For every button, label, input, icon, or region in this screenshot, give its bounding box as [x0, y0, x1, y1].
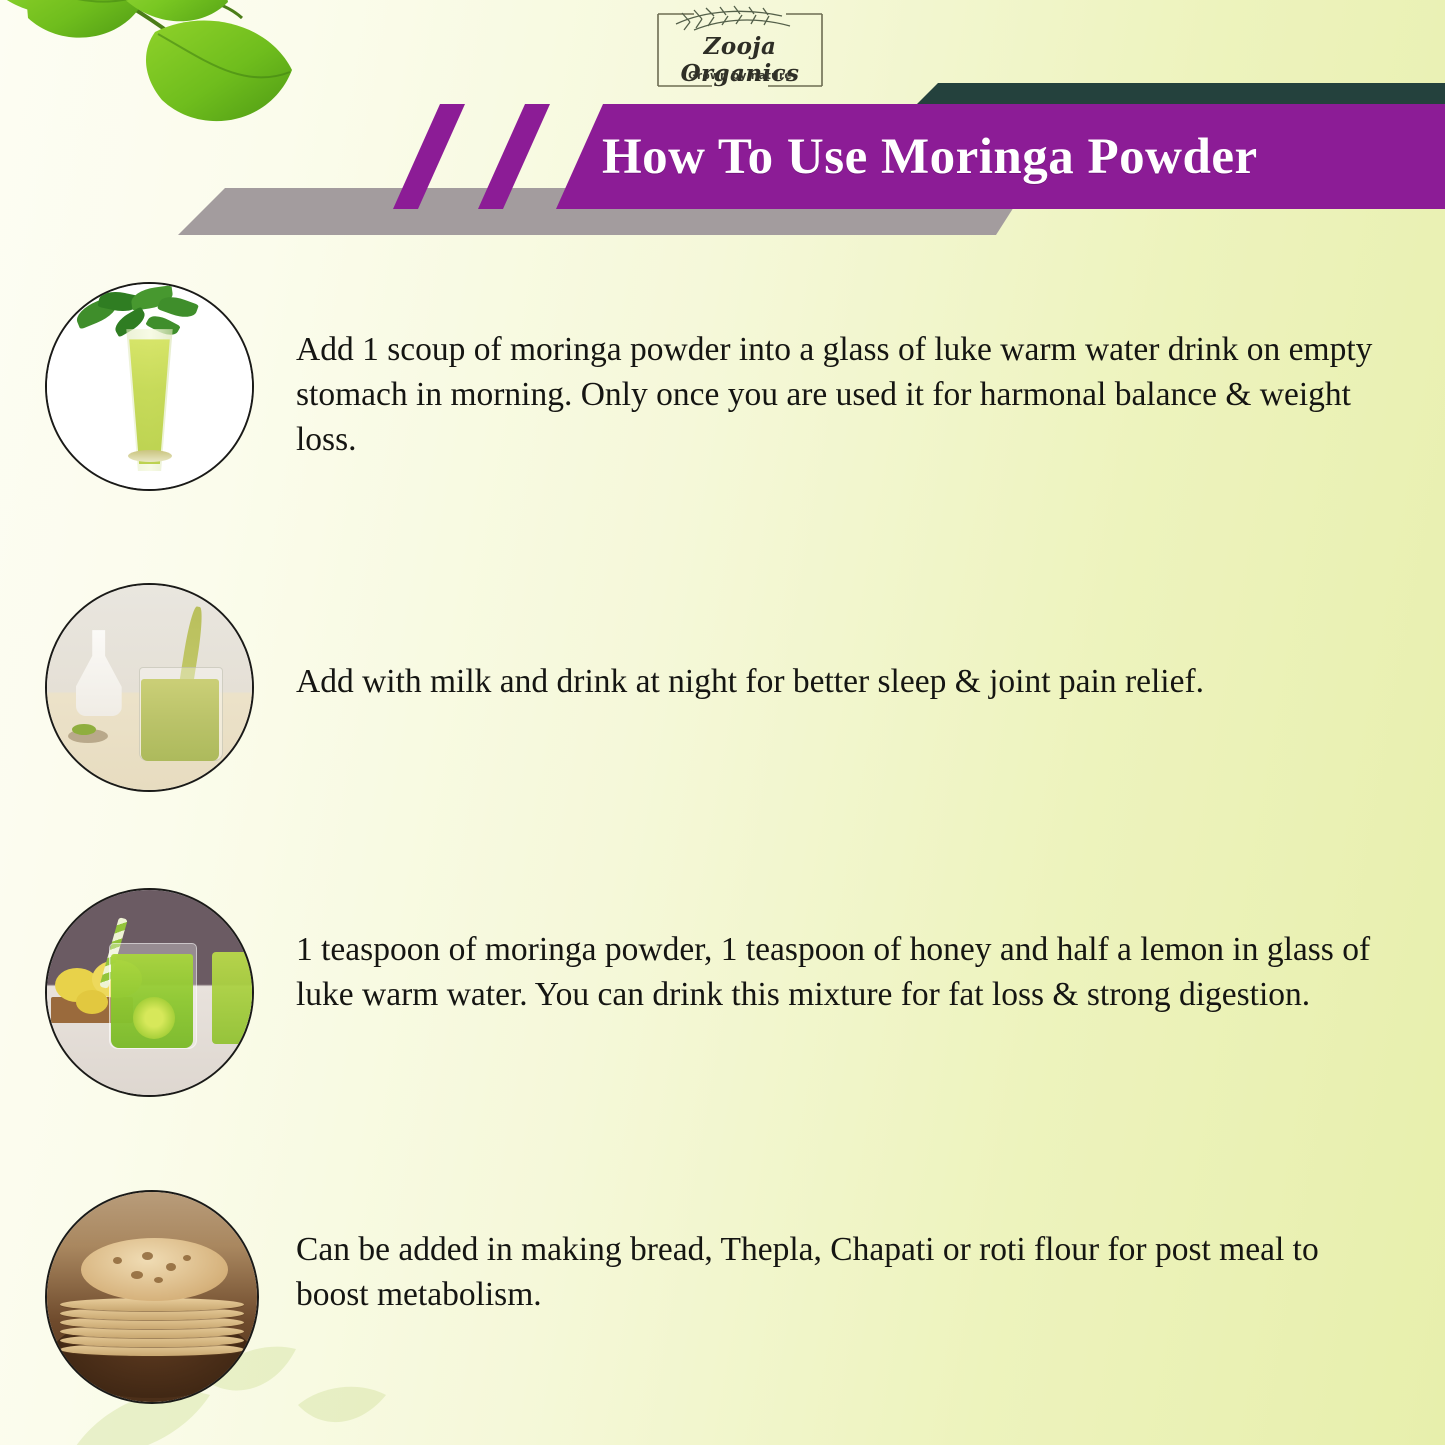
- chapati-stack-photo: [45, 1190, 259, 1404]
- moringa-milk-pour-photo: [45, 583, 254, 792]
- step-4-text: Can be added in making bread, Thepla, Ch…: [296, 1228, 1341, 1318]
- infographic-page: Zooja Organics Grown by nature How To Us…: [0, 0, 1445, 1445]
- step-3-text: 1 teaspoon of moringa powder, 1 teaspoon…: [296, 928, 1371, 1018]
- step-1-text: Add 1 scoup of moringa powder into a gla…: [296, 328, 1396, 463]
- moringa-lemonade-photo: [45, 888, 254, 1097]
- step-2-text: Add with milk and drink at night for bet…: [296, 660, 1356, 705]
- brand-logo: Zooja Organics Grown by nature: [650, 4, 830, 96]
- header-banner: How To Use Moringa Powder: [556, 104, 1445, 209]
- brand-tagline: Grown by nature: [650, 70, 830, 82]
- moringa-juice-glass-photo: [45, 282, 254, 491]
- page-title: How To Use Moringa Powder: [602, 128, 1258, 186]
